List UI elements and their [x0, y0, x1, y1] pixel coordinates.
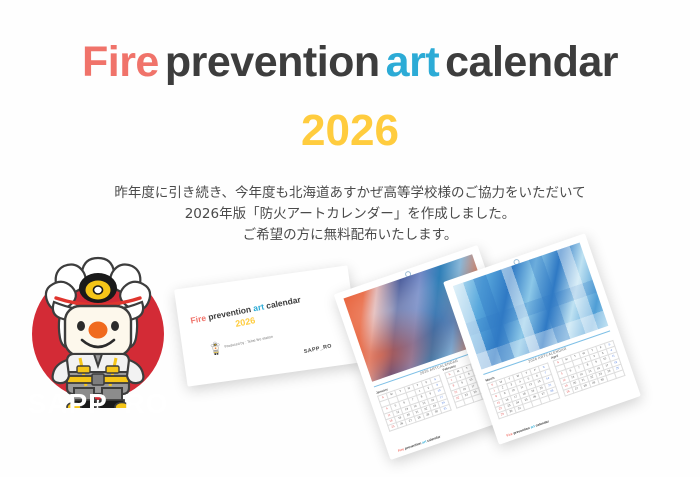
- page-title: Firepreventionartcalendar: [0, 38, 700, 87]
- calendar-cover-card: Fire prevention art calendar 2026 Produc…: [174, 265, 361, 386]
- description-line-3: ご希望の方に無料配布いたします。: [0, 225, 700, 246]
- description-line-1: 昨年度に引き続き、今年度も北海道あすかぜ高等学校様のご協力をいただいて: [0, 183, 700, 204]
- mascot-logo: SAPP_RO: [18, 248, 178, 438]
- cover-word-fire: Fire: [190, 313, 207, 326]
- mini-month-0: January SMTWTFS1234567891011121314151617…: [375, 370, 455, 444]
- title-word-prevention: prevention: [165, 38, 380, 87]
- mini-calendar-table-3: SMTWTFS123456789101112131415161718192021…: [552, 340, 625, 397]
- cover-title: Fire prevention art calendar: [190, 287, 341, 326]
- calendar-product-photos: Fire prevention art calendar 2026 Produc…: [175, 255, 695, 455]
- mini-calendar-table-2: SMTWTFS123456789101112131415161718192021…: [486, 363, 559, 420]
- description-line-2: 2026年版「防火アートカレンダー」を作成しました。: [0, 204, 700, 225]
- cover-word-calendar: calendar: [265, 294, 301, 310]
- cover-mascot-icon: [207, 339, 223, 359]
- promo-page: Firepreventionartcalendar 2026 昨年度に引き続き、…: [0, 0, 700, 477]
- footer-word-calendar: calendar: [427, 435, 441, 443]
- mascot-character-icon: [18, 248, 178, 408]
- footer-word-prevention: prevention: [513, 426, 531, 435]
- mini-month-2: March SMTWTFS123456789101112131415161718…: [485, 358, 563, 429]
- mascot-name-label: SAPP_RO: [18, 388, 178, 420]
- footer-word-prevention: prevention: [404, 441, 422, 450]
- title-year: 2026: [0, 106, 700, 156]
- title-word-calendar: calendar: [445, 38, 618, 87]
- cover-credit: Produced by : Teine fire station: [224, 335, 273, 349]
- cover-year: 2026: [234, 315, 256, 329]
- cover-signature: SAPP_RO: [303, 343, 332, 355]
- mini-calendar-table-0: SMTWTFS123456789101112131415161718192021…: [377, 375, 451, 432]
- cover-word-art: art: [252, 301, 265, 313]
- title-word-art: art: [386, 38, 439, 87]
- footer-word-calendar: calendar: [535, 419, 549, 427]
- mini-month-3: April SMTWTFS123456789101112131415161718…: [551, 335, 629, 406]
- title-word-fire: Fire: [82, 38, 159, 87]
- description-text: 昨年度に引き続き、今年度も北海道あすかぜ高等学校様のご協力をいただいて 2026…: [0, 183, 700, 246]
